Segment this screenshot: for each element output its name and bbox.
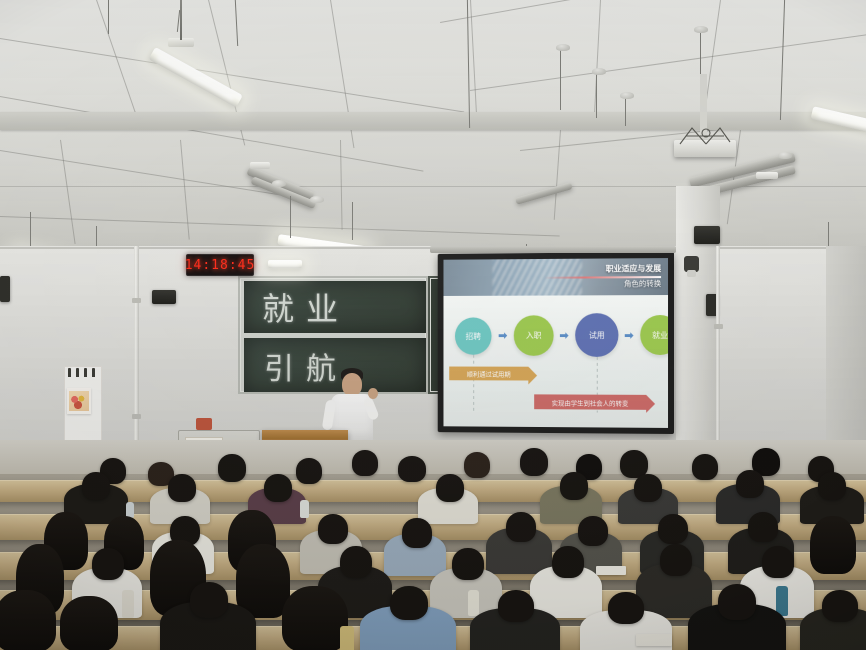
water-bottle: [122, 590, 134, 618]
slide-title-sub: 角色的转换: [624, 278, 661, 290]
student-audience: [0, 440, 866, 650]
slide-arrow-icon-3: ➡: [624, 331, 633, 342]
clock-time: 14:18:45: [185, 258, 256, 273]
wall-pipe: [716, 246, 720, 466]
slide-body: 招聘 ➡ 入职 ➡ 试用 ➡ 就业 顺利通过试用期 实现由学生到社会人的转变: [443, 295, 668, 428]
wall-speaker-far-left: [0, 276, 10, 302]
lecture-hall-photo: 就业 引航 14:18:45 职业适应与发展 角色的转换 招聘 ➡ 入职: [0, 0, 866, 650]
slide-step-circle-4: 就业: [640, 315, 668, 355]
slide-title-main: 职业适应与发展: [606, 263, 661, 276]
water-bottle: [300, 500, 309, 518]
projector-cage-icon: [676, 124, 734, 146]
slide-arrow-icon-2: ➡: [560, 331, 569, 342]
slide-title-group: 职业适应与发展: [606, 263, 661, 276]
water-bottle: [468, 590, 479, 616]
poster-hooks: [68, 368, 95, 377]
projected-slide: 职业适应与发展 角色的转换 招聘 ➡ 入职 ➡ 试用 ➡ 就业: [443, 258, 668, 428]
led-wall-clock: 14:18:45: [186, 254, 254, 276]
ceiling: [0, 0, 866, 258]
light-hanger-rod: [180, 0, 182, 40]
water-bottle: [340, 626, 354, 650]
chalk-line-1: 就业: [262, 284, 350, 330]
slide-tag-2: 实现由学生到社会人的转变: [534, 395, 646, 410]
console-item-red: [196, 418, 212, 430]
screen-roller: [430, 246, 676, 253]
slide-header-band: 职业适应与发展 角色的转换: [443, 258, 668, 296]
paper-sheet: [596, 566, 626, 575]
security-camera: [684, 256, 699, 272]
slide-subtitle-group: 角色的转换: [624, 278, 661, 290]
slide-step-circle-2: 入职: [514, 316, 554, 357]
board-lamp: [268, 260, 302, 268]
slide-dropline-1: [473, 355, 474, 412]
slide-step-circle-1: 招聘: [455, 318, 492, 355]
slide-arrow-icon-1: ➡: [498, 332, 507, 343]
paper-sheet: [636, 634, 672, 646]
wall-speaker-right: [694, 226, 720, 244]
slide-step-circle-3: 试用: [575, 314, 618, 358]
wall-poster: [67, 388, 91, 414]
projection-screen: 职业适应与发展 角色的转换 招聘 ➡ 入职 ➡ 试用 ➡ 就业: [438, 252, 674, 434]
slide-tag-1: 顺利通过试用期: [449, 367, 528, 381]
wall-speaker-left: [152, 290, 176, 304]
